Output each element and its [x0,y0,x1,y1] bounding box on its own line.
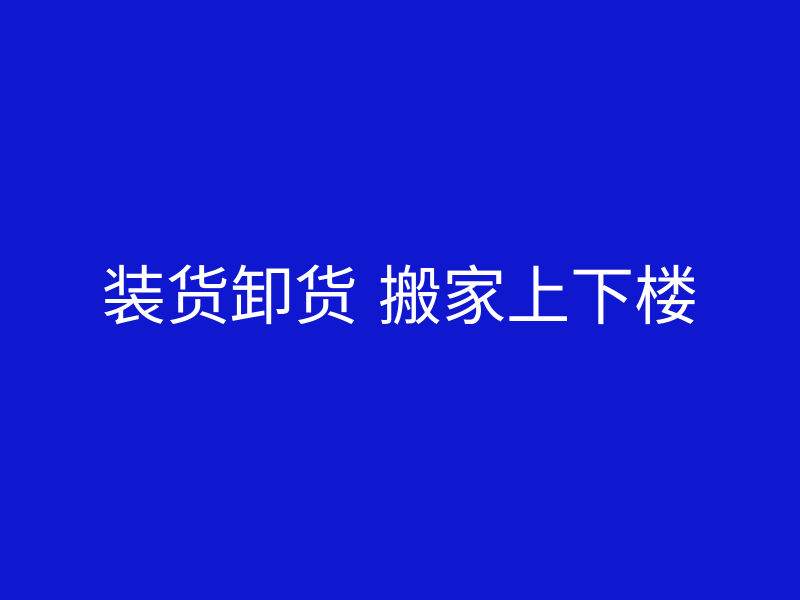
headline-block: 装货卸货 搬家上下楼 [0,266,800,330]
banner-canvas: 装货卸货 搬家上下楼 [0,0,800,600]
headline-text: 装货卸货 搬家上下楼 [102,266,698,330]
